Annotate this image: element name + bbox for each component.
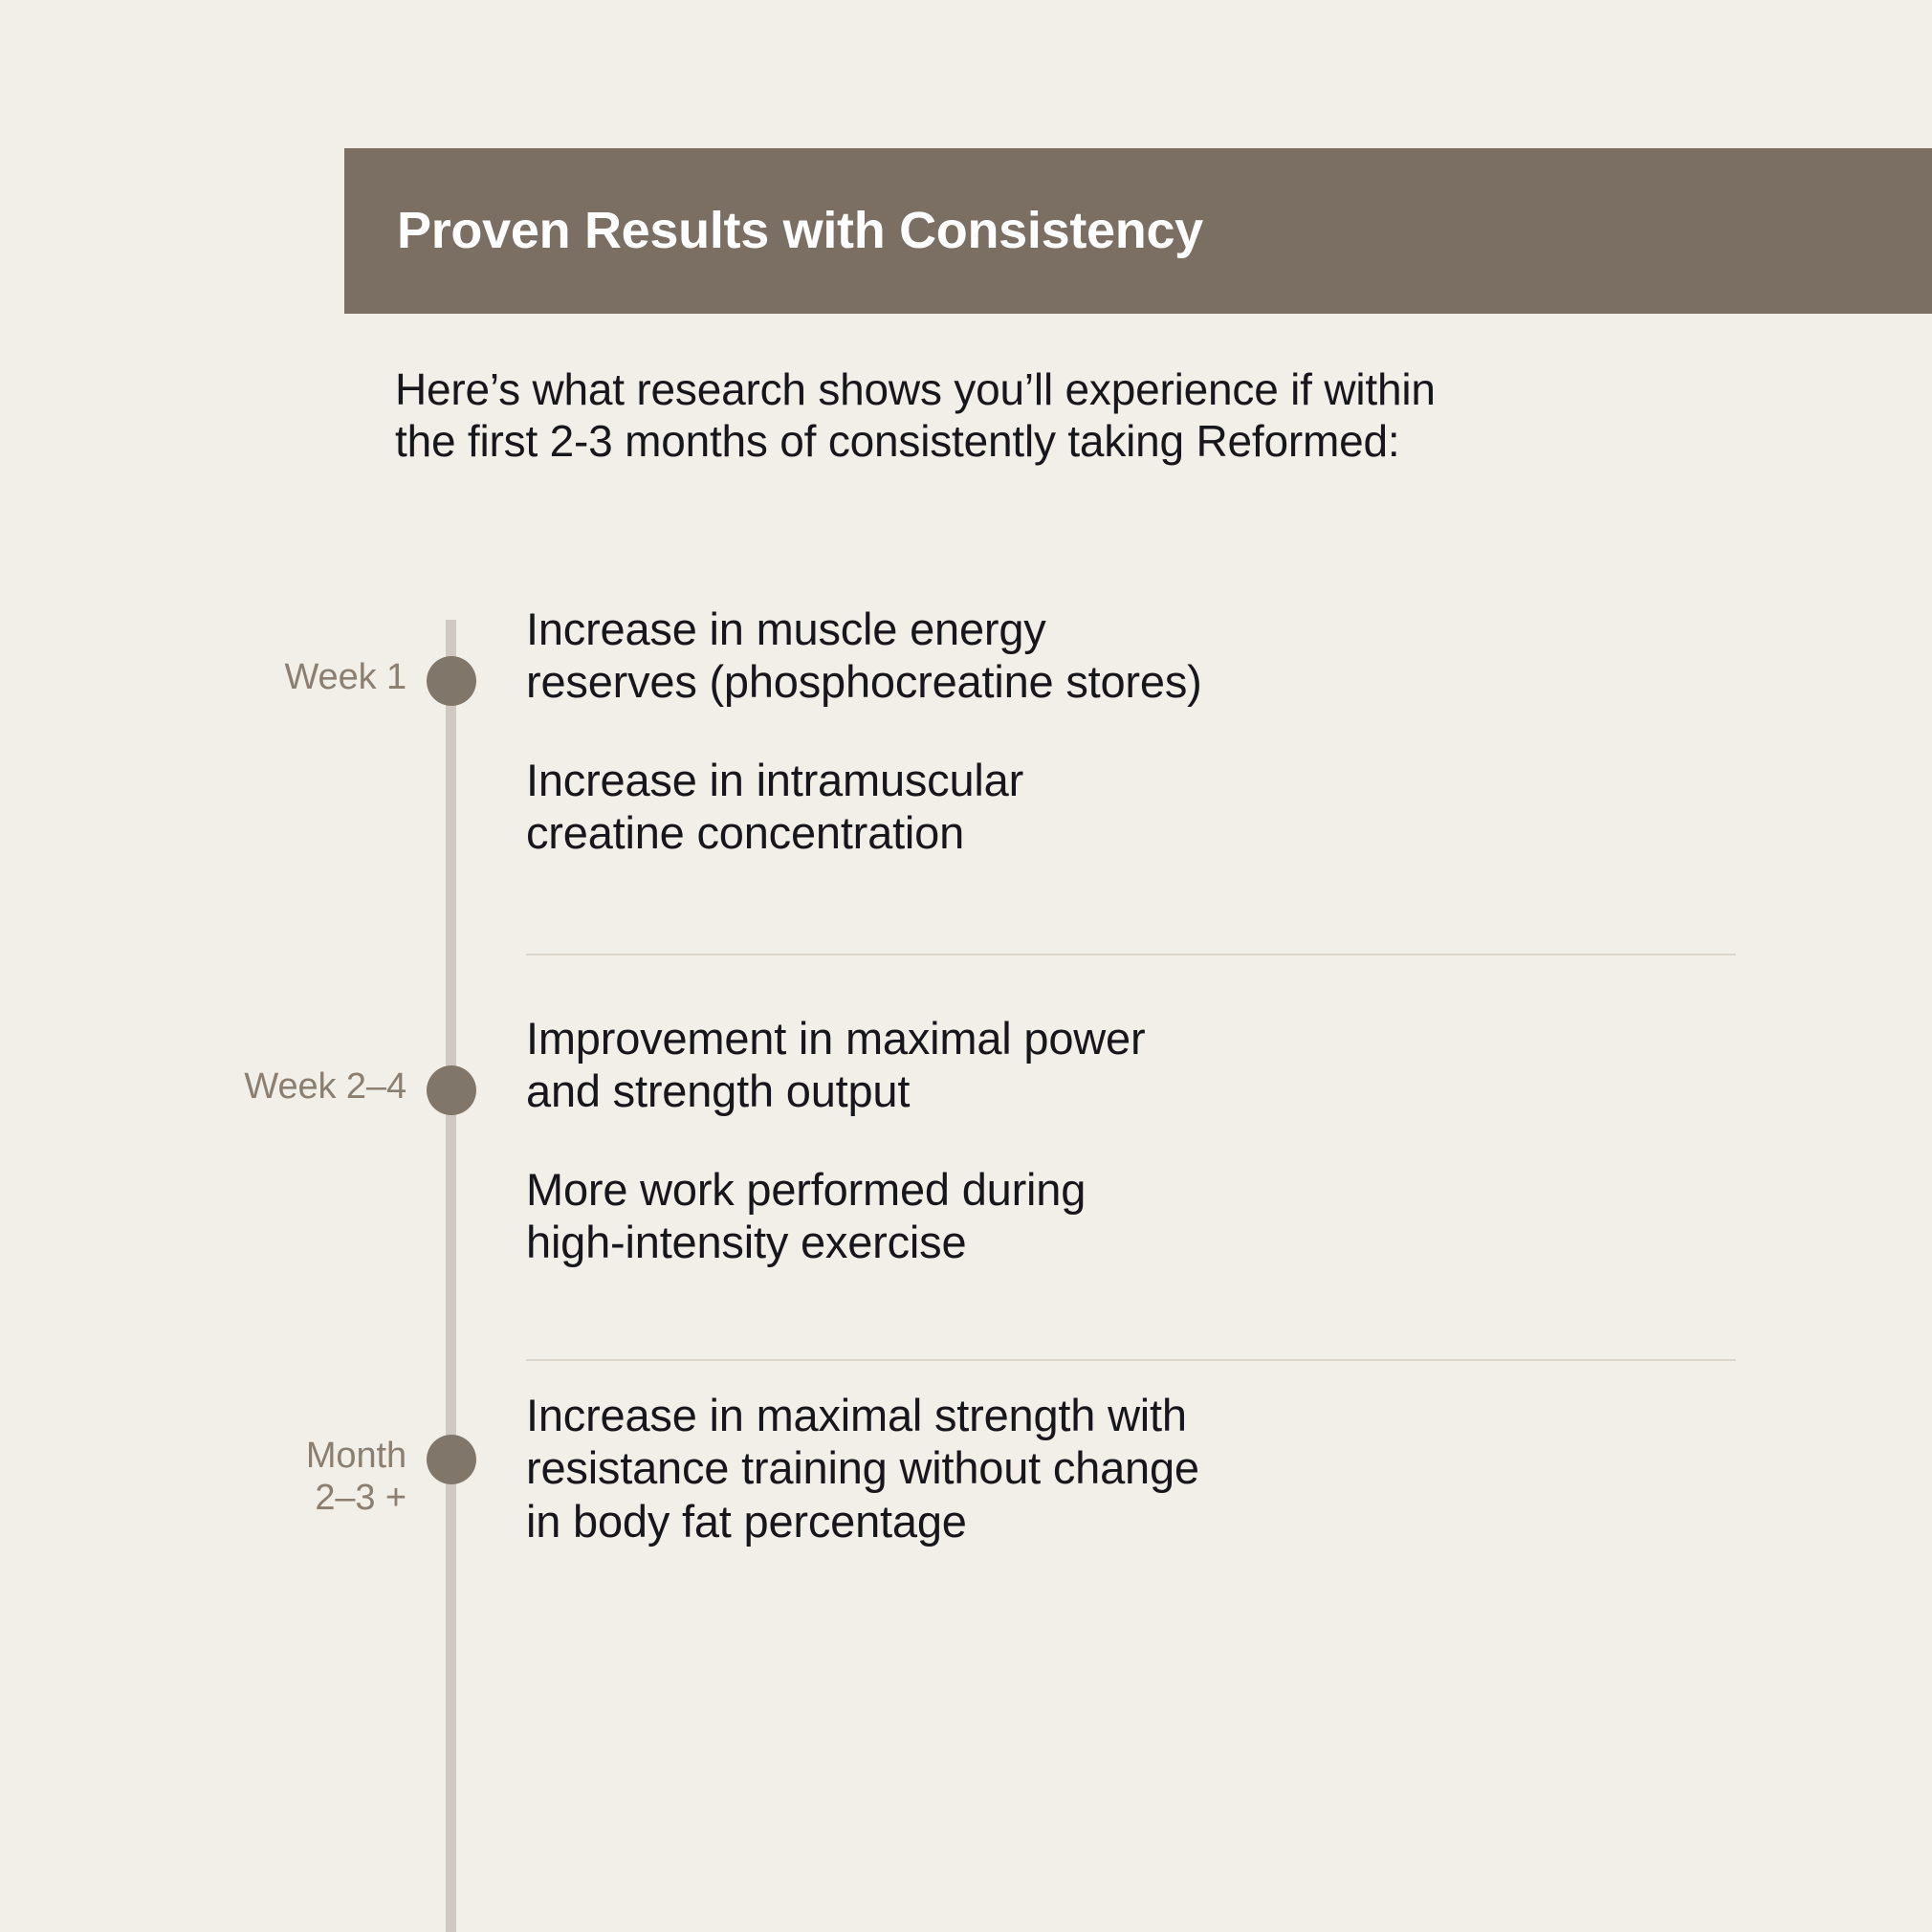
timeline-items-week-1: Increase in muscle energy reserves (phos… bbox=[526, 603, 1769, 860]
timeline-dot-month-2-3 bbox=[427, 1435, 476, 1484]
item-line: creatine concentration bbox=[526, 806, 1769, 859]
item-line: Increase in muscle energy bbox=[526, 603, 1769, 655]
list-item: Increase in intramuscular creatine conce… bbox=[526, 754, 1769, 860]
timeline-rail bbox=[446, 620, 456, 1932]
item-line: in body fat percentage bbox=[526, 1495, 1769, 1548]
timeline-label-month-2-3-line-2: 2–3 + bbox=[115, 1477, 406, 1519]
results-timeline: Week 1 Increase in muscle energy reserve… bbox=[0, 0, 1932, 1932]
timeline-label-week-2-4-line-1: Week 2–4 bbox=[244, 1066, 406, 1107]
timeline-divider bbox=[526, 1359, 1736, 1361]
item-line: and strength output bbox=[526, 1065, 1769, 1117]
timeline-label-week-2-4: Week 2–4 bbox=[115, 1065, 406, 1108]
timeline-label-month-2-3-line-1: Month bbox=[115, 1435, 406, 1477]
item-line: More work performed during bbox=[526, 1163, 1769, 1216]
timeline-label-week-1: Week 1 bbox=[115, 656, 406, 698]
infographic-page: Proven Results with Consistency Here’s w… bbox=[0, 0, 1932, 1932]
item-line: high-intensity exercise bbox=[526, 1216, 1769, 1268]
timeline-dot-week-2-4 bbox=[427, 1065, 476, 1115]
list-item: Improvement in maximal power and strengt… bbox=[526, 1012, 1769, 1118]
list-item: Increase in muscle energy reserves (phos… bbox=[526, 603, 1769, 709]
timeline-label-week-1-line-1: Week 1 bbox=[284, 657, 406, 697]
timeline-dot-week-1 bbox=[427, 656, 476, 706]
item-line: Improvement in maximal power bbox=[526, 1012, 1769, 1065]
timeline-items-week-2-4: Improvement in maximal power and strengt… bbox=[526, 1012, 1769, 1269]
timeline-items-month-2-3: Increase in maximal strength with resist… bbox=[526, 1389, 1769, 1548]
timeline-divider bbox=[526, 954, 1736, 955]
timeline-label-month-2-3: Month 2–3 + bbox=[115, 1435, 406, 1519]
list-item: More work performed during high-intensit… bbox=[526, 1163, 1769, 1269]
item-line: Increase in maximal strength with bbox=[526, 1389, 1769, 1441]
list-item: Increase in maximal strength with resist… bbox=[526, 1389, 1769, 1548]
item-line: Increase in intramuscular bbox=[526, 754, 1769, 806]
item-line: resistance training without change bbox=[526, 1441, 1769, 1494]
item-line: reserves (phosphocreatine stores) bbox=[526, 655, 1769, 708]
